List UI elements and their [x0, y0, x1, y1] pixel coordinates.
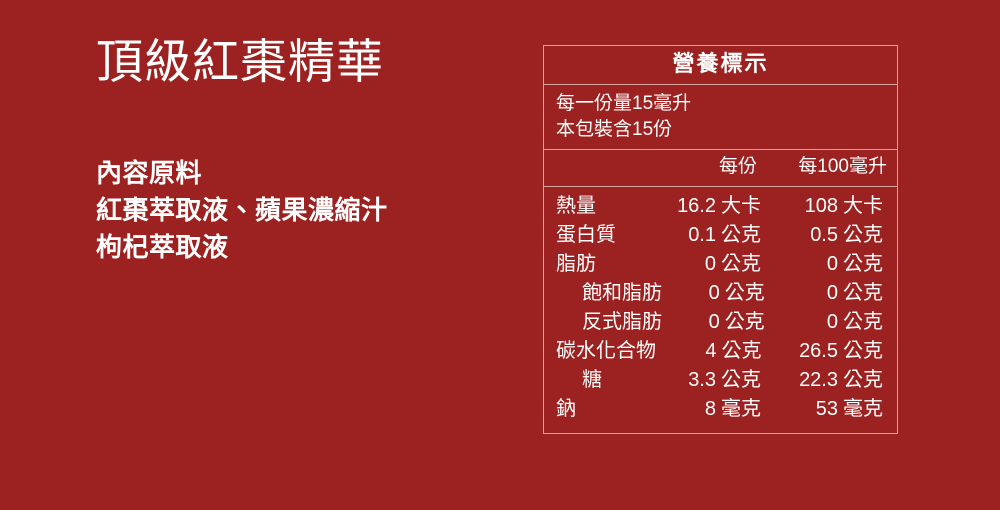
- nutrition-value: 0: [765, 254, 843, 274]
- nutrition-value: 0.1: [655, 225, 721, 245]
- nutrition-row-per-100ml: 22.3公克: [765, 370, 897, 390]
- nutrition-unit: 公克: [843, 370, 887, 390]
- nutrition-row-per-100ml: 108大卡: [765, 196, 897, 216]
- left-text-column: 頂級紅棗精華 內容原料 紅棗萃取液、蘋果濃縮汁 枸杞萃取液: [96, 0, 526, 510]
- nutrition-row: 鈉8毫克53毫克: [544, 395, 897, 424]
- nutrition-unit: 公克: [721, 254, 765, 274]
- nutrition-row-per-100ml: 0公克: [765, 254, 897, 274]
- ingredients-block: 內容原料 紅棗萃取液、蘋果濃縮汁 枸杞萃取液: [96, 155, 388, 266]
- nutrition-row: 脂肪0公克0公克: [544, 250, 897, 279]
- nutrition-row-per-serving: 4公克: [656, 341, 766, 361]
- nutrition-value: 22.3: [765, 370, 843, 390]
- nutrition-row-per-100ml: 53毫克: [765, 399, 897, 419]
- nutrition-unit: 公克: [725, 283, 769, 303]
- nutrition-row-label: 反式脂肪: [544, 312, 662, 332]
- nutrition-unit: 毫克: [843, 399, 887, 419]
- nutrition-row-per-100ml: 0公克: [769, 283, 897, 303]
- nutrition-unit: 公克: [843, 312, 887, 332]
- nutrition-row: 飽和脂肪0公克0公克: [544, 279, 897, 308]
- nutrition-rows: 熱量16.2大卡108大卡蛋白質0.1公克0.5公克脂肪0公克0公克飽和脂肪0公…: [544, 187, 897, 433]
- nutrition-value: 0: [769, 283, 843, 303]
- nutrition-value: 16.2: [655, 196, 721, 216]
- ingredients-line-1: 紅棗萃取液、蘋果濃縮汁: [96, 192, 388, 229]
- nutrition-row-per-serving: 0公克: [655, 254, 765, 274]
- nutrition-value: 0: [662, 312, 725, 332]
- nutrition-row-per-serving: 0公克: [662, 283, 769, 303]
- nutrition-row-label: 飽和脂肪: [544, 283, 662, 303]
- serving-info: 每一份量15毫升 本包裝含15份: [544, 85, 897, 150]
- nutrition-row-per-serving: 0.1公克: [655, 225, 765, 245]
- nutrition-unit: 毫克: [721, 399, 765, 419]
- nutrition-unit: 大卡: [843, 196, 887, 216]
- nutrition-unit: 公克: [721, 370, 765, 390]
- nutrition-value: 108: [765, 196, 843, 216]
- nutrition-unit: 公克: [843, 225, 887, 245]
- ingredients-heading: 內容原料: [96, 155, 388, 192]
- nutrition-value: 0: [655, 254, 721, 274]
- nutrition-row-per-100ml: 0公克: [769, 312, 897, 332]
- nutrition-row-label: 糖: [544, 370, 655, 390]
- nutrition-value: 0.5: [765, 225, 843, 245]
- nutrition-row-label: 蛋白質: [544, 225, 655, 245]
- nutrition-value: 4: [656, 341, 722, 361]
- nutrition-row: 蛋白質0.1公克0.5公克: [544, 221, 897, 250]
- nutrition-unit: 公克: [721, 225, 765, 245]
- column-header-spacer: [544, 155, 649, 180]
- nutrition-row: 反式脂肪0公克0公克: [544, 308, 897, 337]
- nutrition-row-label: 鈉: [544, 399, 655, 419]
- nutrition-unit: 公克: [843, 341, 887, 361]
- nutrition-facts-panel: 營養標示 每一份量15毫升 本包裝含15份 每份 每100毫升 熱量16.2大卡…: [543, 45, 898, 434]
- nutrition-unit: 公克: [725, 312, 769, 332]
- servings-per-container: 本包裝含15份: [556, 117, 897, 142]
- nutrition-row-per-serving: 8毫克: [655, 399, 765, 419]
- nutrition-facts-title: 營養標示: [544, 46, 897, 85]
- nutrition-unit: 公克: [843, 283, 887, 303]
- nutrition-value: 53: [765, 399, 843, 419]
- nutrition-row-per-serving: 3.3公克: [655, 370, 765, 390]
- ingredients-line-2: 枸杞萃取液: [96, 229, 388, 266]
- nutrition-value: 8: [655, 399, 721, 419]
- nutrition-value: 3.3: [655, 370, 721, 390]
- nutrition-row-per-100ml: 0.5公克: [765, 225, 897, 245]
- nutrition-column-headers: 每份 每100毫升: [544, 150, 897, 187]
- nutrition-row-per-100ml: 26.5公克: [766, 341, 897, 361]
- column-header-per-serving: 每份: [649, 155, 765, 180]
- column-header-per-100ml: 每100毫升: [765, 155, 897, 180]
- nutrition-row-per-serving: 0公克: [662, 312, 769, 332]
- nutrition-row: 糖3.3公克22.3公克: [544, 366, 897, 395]
- nutrition-row-label: 脂肪: [544, 254, 655, 274]
- nutrition-value: 26.5: [766, 341, 843, 361]
- product-title: 頂級紅棗精華: [96, 36, 384, 90]
- nutrition-unit: 公克: [722, 341, 766, 361]
- nutrition-value: 0: [662, 283, 725, 303]
- nutrition-row: 熱量16.2大卡108大卡: [544, 192, 897, 221]
- nutrition-row-per-serving: 16.2大卡: [655, 196, 765, 216]
- nutrition-unit: 公克: [843, 254, 887, 274]
- product-label-page: 頂級紅棗精華 內容原料 紅棗萃取液、蘋果濃縮汁 枸杞萃取液 營養標示 每一份量1…: [0, 0, 1000, 510]
- serving-size: 每一份量15毫升: [556, 91, 897, 116]
- nutrition-row-label: 碳水化合物: [544, 341, 656, 361]
- nutrition-row-label: 熱量: [544, 196, 655, 216]
- nutrition-unit: 大卡: [721, 196, 765, 216]
- nutrition-value: 0: [769, 312, 843, 332]
- nutrition-row: 碳水化合物4公克26.5公克: [544, 337, 897, 366]
